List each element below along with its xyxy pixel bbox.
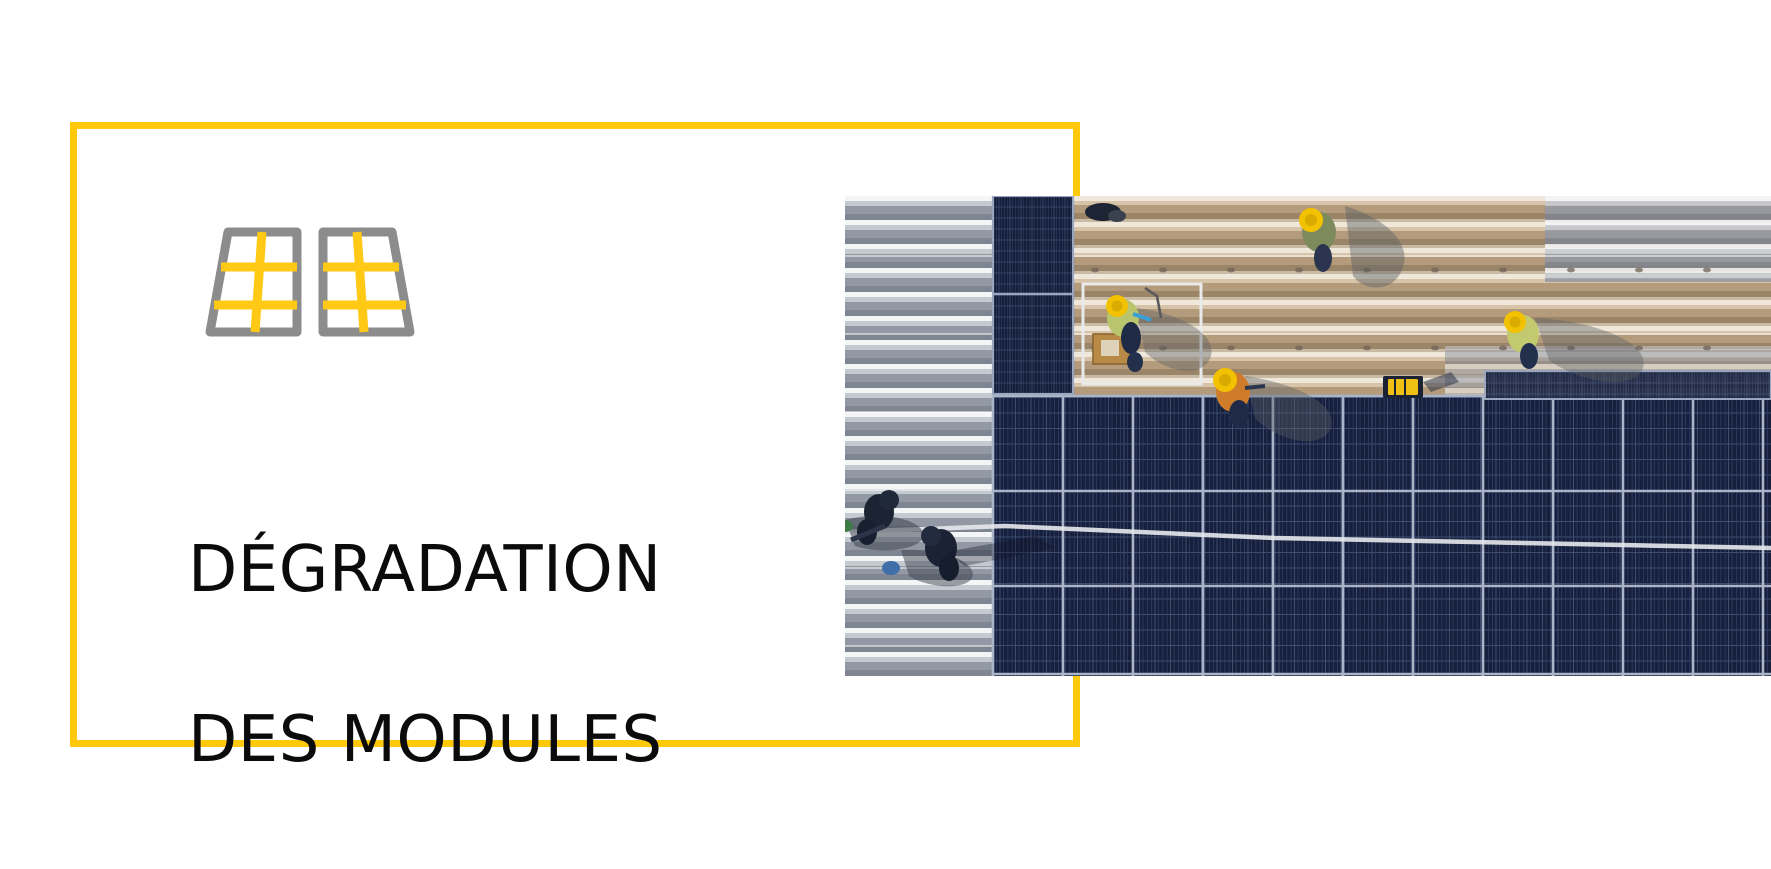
- page-title-line-1: DÉGRADATION: [188, 528, 908, 613]
- slide-root: DÉGRADATION DES MODULES: [0, 0, 1771, 869]
- page-title-line-2: DES MODULES: [188, 698, 908, 783]
- aerial-solar-rooftop-photo: [845, 196, 1771, 676]
- pv-array-upper-left: [993, 196, 1073, 394]
- page-title: DÉGRADATION DES MODULES: [188, 443, 908, 869]
- pv-array-main: [993, 396, 1771, 676]
- solar-panel-icon-right-module: [323, 232, 410, 332]
- solar-panel-icon: [205, 222, 415, 342]
- solar-panel-icon-left-module: [210, 232, 297, 332]
